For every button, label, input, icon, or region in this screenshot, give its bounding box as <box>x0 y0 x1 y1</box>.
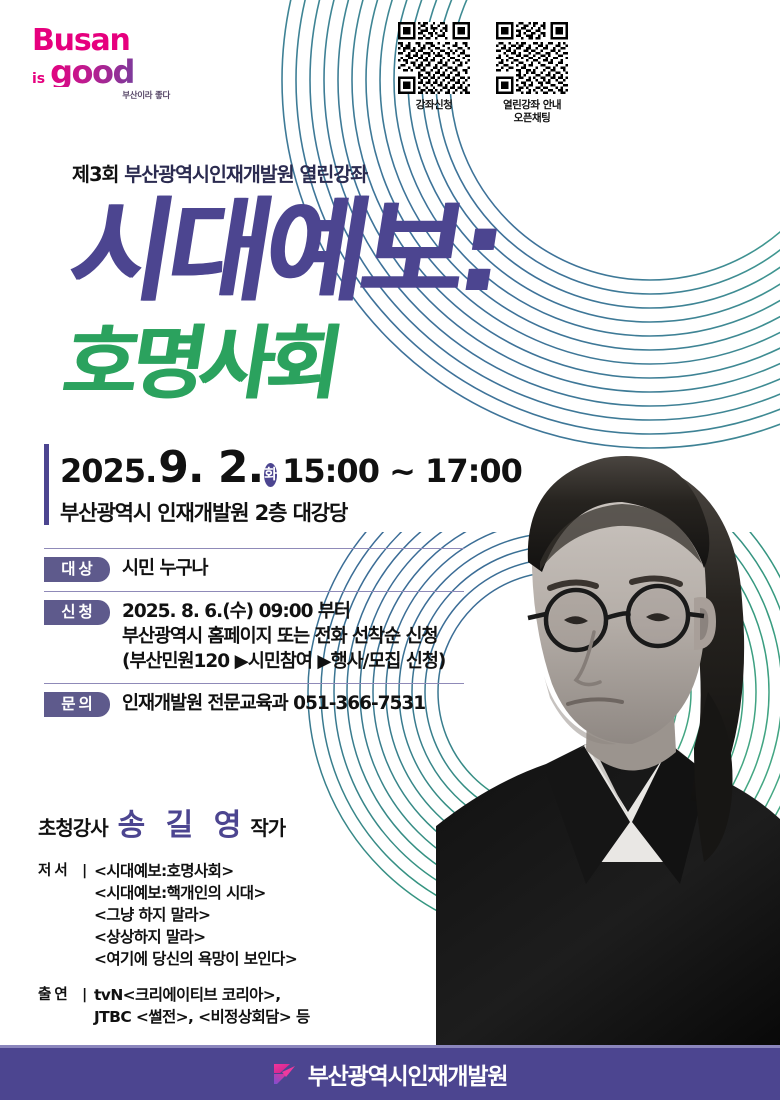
speaker-headline: 초청강사 송 길 영 작가 <box>38 800 438 844</box>
info-badge-application: 신청 <box>44 600 110 625</box>
event-month-day: 9. 2. <box>158 442 263 493</box>
credit-separator-books: | <box>82 860 94 882</box>
logo-good-text: good <box>50 57 134 87</box>
credit-separator-appearances: | <box>82 984 94 1006</box>
title-line-primary: 시대예보: <box>62 196 507 308</box>
event-series-subtitle: 제3회 부산광역시인재개발원 열린강좌 <box>72 158 367 187</box>
credit-row-books: 저서 | <시대예보:호명사회> <시대예보:핵개인의 시대> <그냥 하지 말… <box>38 860 438 970</box>
logo-is-text: is <box>32 71 45 87</box>
busan-is-good-logo: Busan is good 부산이라 좋다 <box>32 26 172 102</box>
speaker-suffix: 작가 <box>250 812 285 841</box>
footer-organization: 부산광역시인재개발원 <box>308 1057 508 1091</box>
speaker-prefix: 초청강사 <box>38 812 108 841</box>
title-line-secondary: 호명사회 <box>58 324 341 404</box>
qr-code-icon[interactable] <box>398 22 470 94</box>
page-title: 시대예보: 호명사회 <box>40 196 620 416</box>
info-row-application: 신청 2025. 8. 6.(수) 09:00 부터 부산광역시 홈페이지 또는… <box>44 591 464 683</box>
qr-code-icon[interactable] <box>496 22 568 94</box>
qr-code-group: 강좌신청 <box>398 22 568 125</box>
speaker-block: 초청강사 송 길 영 작가 저서 | <시대예보:호명사회> <시대예보:핵개인… <box>38 800 438 1042</box>
event-poster: Busan is good 부산이라 좋다 <box>0 0 780 1100</box>
subtitle-organizer: 부산광역시인재개발원 열린강좌 <box>124 163 367 186</box>
info-value-inquiry: 인재개발원 전문교육과 051-366-7531 <box>122 691 425 716</box>
subtitle-ordinal: 제3회 <box>72 163 118 186</box>
event-datetime-block: 2025. 9. 2. 화 15:00 ~ 17:00 부산광역시 인재개발원 … <box>44 442 480 527</box>
credit-value-appearances: tvN<크리에이티브 코리아>, JTBC <썰전>, <비정상회담> 등 <box>94 984 310 1028</box>
busan-hrd-logo-icon <box>273 1062 299 1086</box>
qr-label-openchat: 열린강좌 안내 오픈채팅 <box>496 99 568 125</box>
qr-label-course-application: 강좌신청 <box>398 99 470 112</box>
logo-busan-text: Busan <box>32 26 172 56</box>
speaker-name: 송 길 영 <box>118 800 247 844</box>
logo-second-line: is good <box>32 57 172 87</box>
speaker-portrait <box>436 392 780 1050</box>
info-value-audience: 시민 누구나 <box>122 556 208 581</box>
qr-item-openchat[interactable]: 열린강좌 안내 오픈채팅 <box>496 22 568 125</box>
info-badge-audience: 대상 <box>44 557 110 582</box>
event-info-list: 대상 시민 누구나 신청 2025. 8. 6.(수) 09:00 부터 부산광… <box>44 548 464 726</box>
event-year: 2025. <box>60 452 156 490</box>
credit-row-appearances: 출연 | tvN<크리에이티브 코리아>, JTBC <썰전>, <비정상회담>… <box>38 984 438 1028</box>
credit-value-books: <시대예보:호명사회> <시대예보:핵개인의 시대> <그냥 하지 말라> <상… <box>94 860 297 970</box>
info-value-application: 2025. 8. 6.(수) 09:00 부터 부산광역시 홈페이지 또는 전화… <box>122 599 445 674</box>
qr-item-course-application[interactable]: 강좌신청 <box>398 22 470 125</box>
speaker-credits: 저서 | <시대예보:호명사회> <시대예보:핵개인의 시대> <그냥 하지 말… <box>38 860 438 1028</box>
event-venue: 부산광역시 인재개발원 2층 대강당 <box>60 497 480 527</box>
event-date-row: 2025. 9. 2. 화 15:00 ~ 17:00 <box>60 442 480 493</box>
footer-bar: 부산광역시인재개발원 <box>0 1045 780 1100</box>
event-time: 15:00 ~ 17:00 <box>282 452 522 490</box>
info-row-inquiry: 문의 인재개발원 전문교육과 051-366-7531 <box>44 683 464 726</box>
speaker-portrait-image <box>436 392 780 1050</box>
info-row-audience: 대상 시민 누구나 <box>44 548 464 591</box>
event-day-of-week-badge: 화 <box>264 463 277 487</box>
credit-label-books: 저서 <box>38 860 82 882</box>
info-badge-inquiry: 문의 <box>44 692 110 717</box>
credit-label-appearances: 출연 <box>38 984 82 1006</box>
